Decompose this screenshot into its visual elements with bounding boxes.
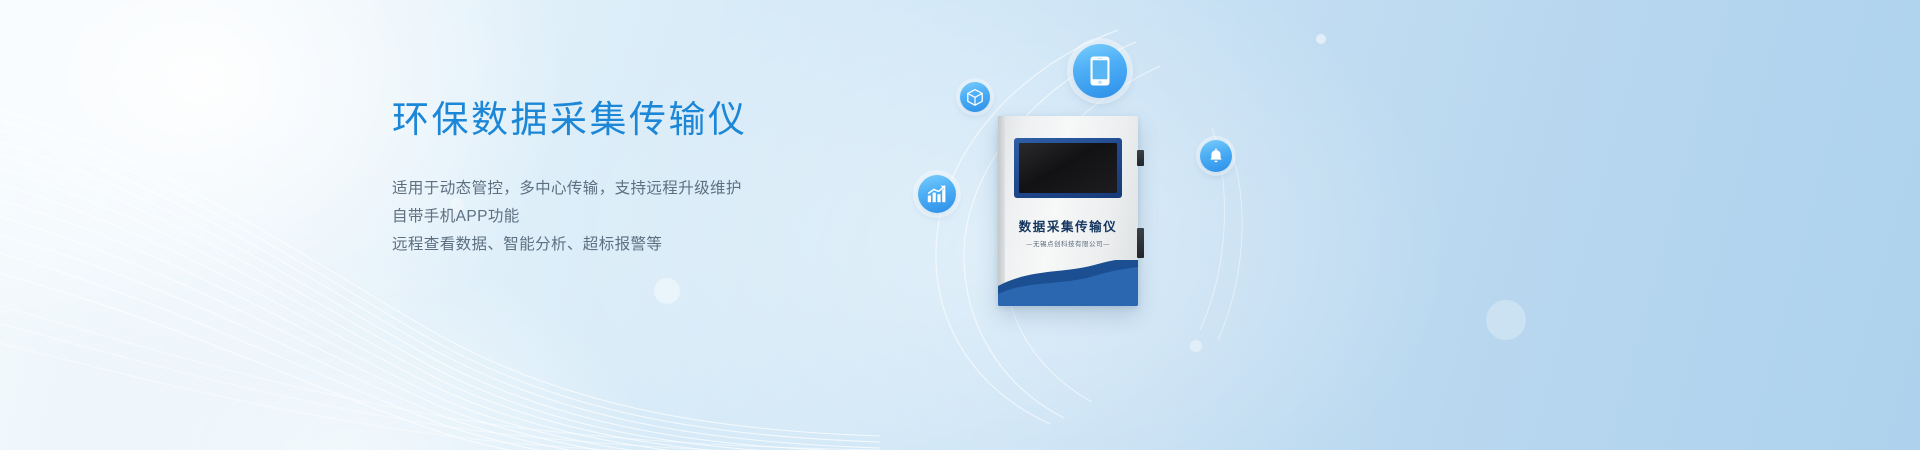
background-glow-bottom-left (40, 250, 660, 450)
data-logger-device: 数据采集传输仪 —无锡点创科技有限公司— (998, 116, 1138, 306)
badge-alarm[interactable] (1200, 140, 1232, 172)
device-screen-bezel (1014, 138, 1122, 198)
device-body: 数据采集传输仪 —无锡点创科技有限公司— (998, 116, 1138, 306)
mobile-phone-icon (1090, 56, 1110, 86)
alarm-bell-icon (1208, 148, 1224, 164)
decorative-bubble (1316, 34, 1326, 44)
decorative-bubble (654, 278, 680, 304)
cube-box-icon (967, 89, 983, 106)
device-brand-title: 数据采集传输仪 (998, 216, 1138, 235)
badge-data-package[interactable] (960, 82, 990, 112)
device-connector-bottom (1137, 228, 1144, 258)
device-wave-graphic (998, 260, 1138, 306)
bar-chart-icon (927, 185, 947, 203)
badge-mobile-app[interactable] (1073, 44, 1127, 98)
device-screen (1019, 143, 1117, 193)
decorative-bubble (1486, 300, 1526, 340)
badge-analytics[interactable] (918, 175, 956, 213)
product-visual: 数据采集传输仪 —无锡点创科技有限公司— (860, 0, 1280, 450)
product-banner: 环保数据采集传输仪 适用于动态管控，多中心传输，支持远程升级维护 自带手机APP… (0, 0, 1920, 450)
device-company-name: —无锡点创科技有限公司— (998, 238, 1138, 248)
device-connector-top (1137, 150, 1144, 166)
